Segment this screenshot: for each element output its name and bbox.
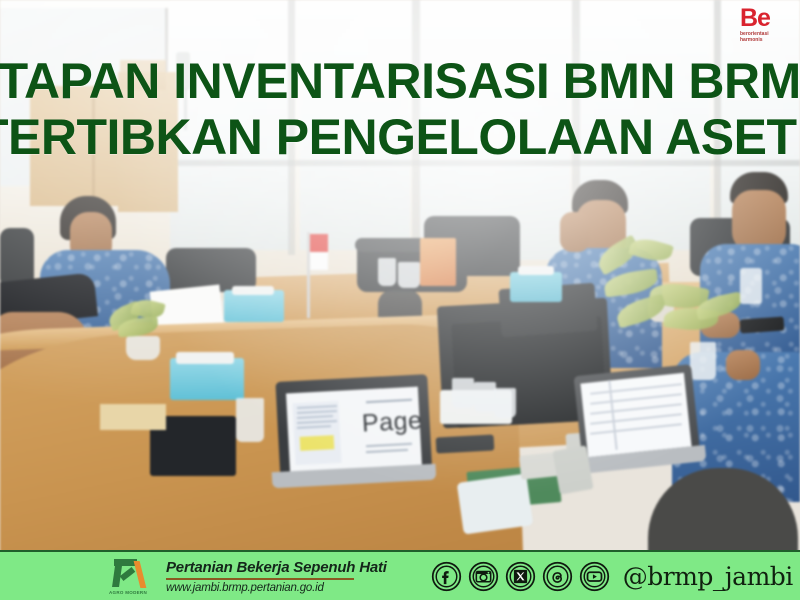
laptop-page-text: Page [361,406,423,438]
wall-cabinet [118,72,178,212]
drinking-glass [236,398,264,442]
drinking-glass [690,342,716,380]
face [732,190,786,252]
facebook-icon[interactable] [431,561,462,592]
tissue-box [510,272,562,302]
footer-bar: AGRO MODERN Pertanian Bekerja Sepenuh Ha… [0,550,800,600]
youtube-icon[interactable] [579,561,610,592]
agro-modern-logo: AGRO MODERN [100,554,156,598]
drinking-glass [494,388,516,418]
window-panel [170,0,290,250]
mobile-phone [457,473,534,534]
threads-icon[interactable] [542,561,573,592]
window-mullion [288,0,295,255]
logo-diagonal [134,561,147,588]
footer-tagline: Pertanian Bekerja Sepenuh Hati [166,559,387,576]
window-panel [300,0,410,250]
drinking-glass [452,378,474,408]
window-mullion [160,160,800,166]
agro-modern-caption: AGRO MODERN [109,590,147,595]
drinking-glass [398,262,420,288]
hand [560,212,590,252]
hand [726,350,760,380]
social-icons-group [431,561,610,592]
keyboard [552,445,593,494]
window-mullion [412,0,420,262]
footer-text-block: Pertanian Bekerja Sepenuh Hati www.jambi… [166,559,387,594]
cabinet-seam [92,86,95,206]
window-mullion [714,0,721,252]
bottle [740,268,762,304]
wall-cabinet [120,60,166,90]
tissue-sheet [176,352,234,364]
logo-arm-mid [120,567,136,581]
agro-modern-mark-icon [111,557,145,589]
cable [436,434,495,453]
plant-pot [126,336,160,360]
berakhlak-logo-subtitle-2: harmonis [740,37,800,43]
flag-white-stripe [310,252,328,270]
meeting-room-photo: Page [0,0,800,600]
paper-stack [100,404,166,430]
tissue-box [170,358,244,400]
footer-url: www.jambi.brmp.pertanian.go.id [166,582,387,594]
footer-divider [166,578,354,580]
x-twitter-icon[interactable] [505,561,536,592]
flag-red-stripe [310,234,328,252]
phone-cord [184,88,187,130]
paper-bag [420,238,456,286]
tissue-sheet [518,266,554,275]
wall-phone [176,52,190,90]
berakhlak-logo-text: Be [740,6,800,31]
tissue-sheet [232,286,274,295]
promotional-banner: Page NTAPAN INVENTARISASI BMN BRMP TERTI… [0,0,800,600]
instagram-icon[interactable] [468,561,499,592]
drinking-glass [378,258,396,286]
social-handle: @brmp_jambi [623,562,793,591]
berakhlak-logo: Be berorientasi harmonis [740,6,800,46]
drinking-glass [474,382,496,412]
highlighted-text [300,435,335,451]
